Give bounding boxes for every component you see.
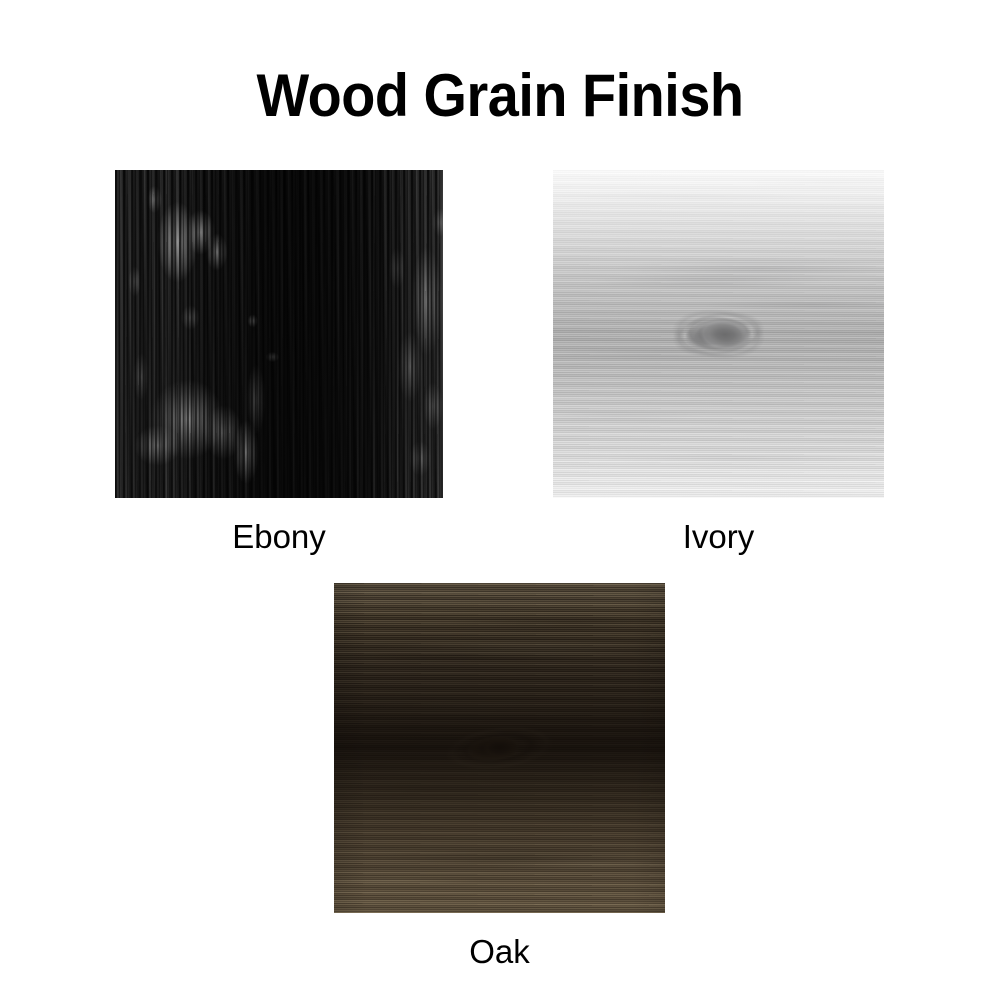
oak-wood-swatch[interactable] (334, 583, 665, 913)
swatch-label-oak: Oak (334, 935, 665, 968)
ivory-wood-swatch[interactable] (553, 170, 884, 498)
ivory-edge-shading-layer (553, 170, 884, 498)
ebony-wood-swatch[interactable] (115, 170, 443, 498)
swatch-label-ebony: Ebony (115, 520, 443, 553)
oak-edge-shading-layer (334, 583, 665, 913)
page-title: Wood Grain Finish (35, 66, 965, 126)
swatch-label-ivory: Ivory (553, 520, 884, 553)
ebony-dark-wash-layer (115, 170, 443, 498)
wood-finish-swatch-board: Wood Grain Finish Ebony Ivory (0, 0, 1000, 1000)
